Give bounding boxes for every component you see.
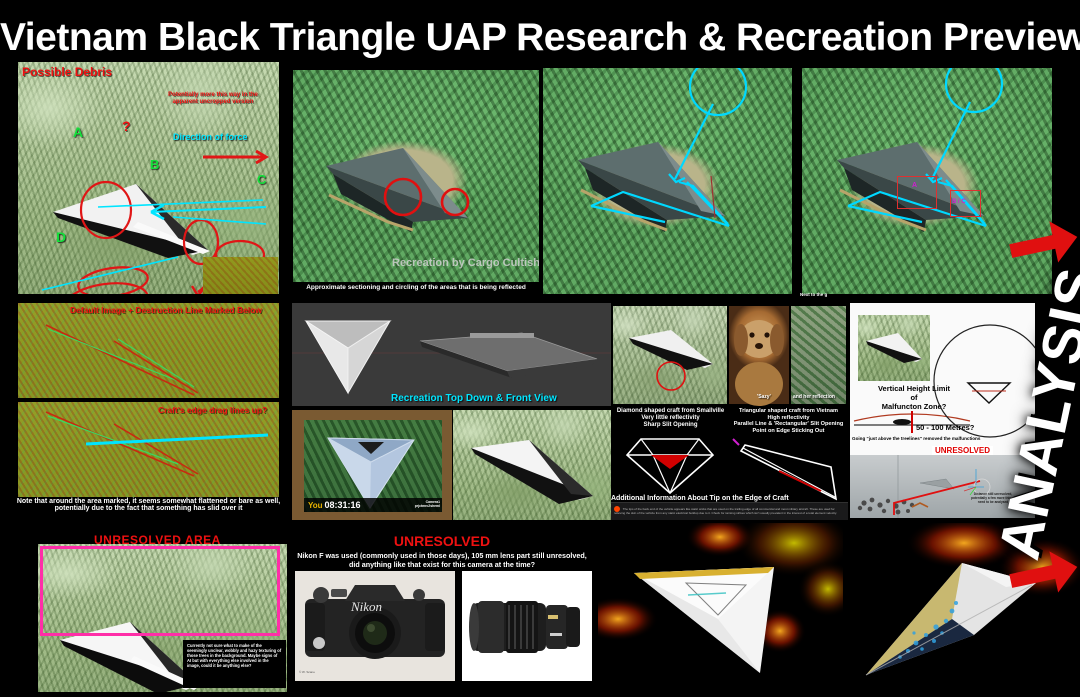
- debris-sample-swatch: [203, 257, 278, 294]
- recreation-sectioning-caption: Approximate sectioning and circling of t…: [287, 284, 545, 291]
- debris-title-label: Possible Debris: [22, 65, 112, 79]
- recreation-circles-1: [293, 70, 539, 282]
- reflection-top-note: Next to the g: [800, 292, 827, 297]
- panel-reflection-lines[interactable]: [543, 68, 792, 294]
- reflection-box-a: [897, 176, 937, 209]
- video-overlay-text: You: [308, 501, 323, 510]
- debris-marker-d: D: [56, 229, 66, 246]
- debris-marker-question: ?: [122, 118, 131, 135]
- height-limit-note: Going "just above the treelines" removed…: [852, 436, 980, 441]
- height-measurement: 50 - 100 Metres?: [916, 424, 974, 433]
- panel-shape-comparison[interactable]: 'Sazy' and her reflection Diamond shaped…: [611, 303, 848, 518]
- debris-marker-c: C: [257, 172, 266, 187]
- topdown-label: Recreation Top Down & Front View: [391, 393, 557, 405]
- camera-caption: Nikon F was used (commonly used in those…: [292, 551, 592, 569]
- edge-drag-label: Craft's edge drag lines up?: [158, 405, 267, 415]
- height-limit-status: UNRESOLVED: [932, 446, 993, 455]
- edge-default-label: Default Image + Destruction Line Marked …: [70, 305, 262, 315]
- panel-unresolved-area[interactable]: Currently not sure what to make of the s…: [38, 544, 287, 692]
- panel-edge-drag[interactable]: Craft's edge drag lines up?: [18, 402, 279, 497]
- topdown-wireframe: [292, 303, 612, 406]
- comment-text: The tips of the back end of the vehicle …: [614, 507, 837, 515]
- camera-credit: © W. Scane: [299, 671, 315, 675]
- panel-edge-default[interactable]: Default Image + Destruction Line Marked …: [18, 303, 279, 398]
- nikon-camera-photo: Nikon: [295, 571, 455, 681]
- reference-craft-shape: [453, 410, 612, 520]
- arrow-right-icon-top: [1010, 215, 1080, 275]
- video-timestamp: 08:31:16: [325, 500, 361, 510]
- glow-render-top: [598, 523, 843, 697]
- edge-default-lines: [18, 303, 279, 398]
- nikon-lens-photo: [462, 571, 592, 681]
- debris-marker-a: A: [73, 124, 83, 141]
- panel-reference-photo[interactable]: [453, 410, 612, 520]
- panel-render-glow-left[interactable]: [598, 523, 843, 697]
- debris-force-note: Direction of force: [173, 132, 248, 143]
- reddit-comment-box[interactable]: The tips of the back end of the vehicle …: [611, 502, 848, 520]
- debris-marker-b: B: [150, 157, 159, 172]
- unresolved-area-note: Currently not sure what to make of the s…: [183, 640, 286, 688]
- shape-diagrams: [611, 303, 848, 518]
- camera-status: UNRESOLVED: [292, 533, 592, 550]
- arrow-right-icon-bottom: [1010, 545, 1080, 605]
- panel-nikon-body[interactable]: Nikon © W. Scane: [295, 571, 455, 681]
- video-timestamp-bar: You 08:31:16 Camera1 prjctmrc2sheml: [304, 498, 442, 512]
- panel-recreation-sectioning[interactable]: Recreation by Cargo Cultish: [293, 70, 539, 282]
- panel-nikon-lens[interactable]: [462, 571, 592, 681]
- edge-drag-lines: [18, 402, 279, 497]
- reflection-marker-a: A: [912, 182, 917, 190]
- nikon-brand-text: Nikon: [350, 599, 382, 614]
- video-camera-label: Camera1 prjctmrc2sheml: [415, 501, 442, 508]
- unresolved-area-box: [40, 546, 280, 636]
- edge-analysis-caption: Note that around the area marked, it see…: [16, 498, 281, 512]
- reflection-annotation-lines-2: [543, 68, 792, 294]
- panel-video-frame[interactable]: You 08:31:16 Camera1 prjctmrc2sheml: [292, 410, 452, 520]
- poster-board: Vietnam Black Triangle UAP Research & Re…: [0, 0, 1080, 697]
- panel-possible-debris[interactable]: Possible Debris Potentially more this wa…: [18, 62, 279, 294]
- panel-topdown-front[interactable]: Recreation Top Down & Front View: [292, 303, 612, 406]
- debris-uncropped-note: Potentially more this way in the apparen…: [153, 92, 273, 106]
- page-title: Vietnam Black Triangle UAP Research & Re…: [0, 16, 1080, 60]
- reflection-marker-bc: B / C: [952, 199, 966, 206]
- recreation-watermark: Recreation by Cargo Cultish: [392, 257, 539, 270]
